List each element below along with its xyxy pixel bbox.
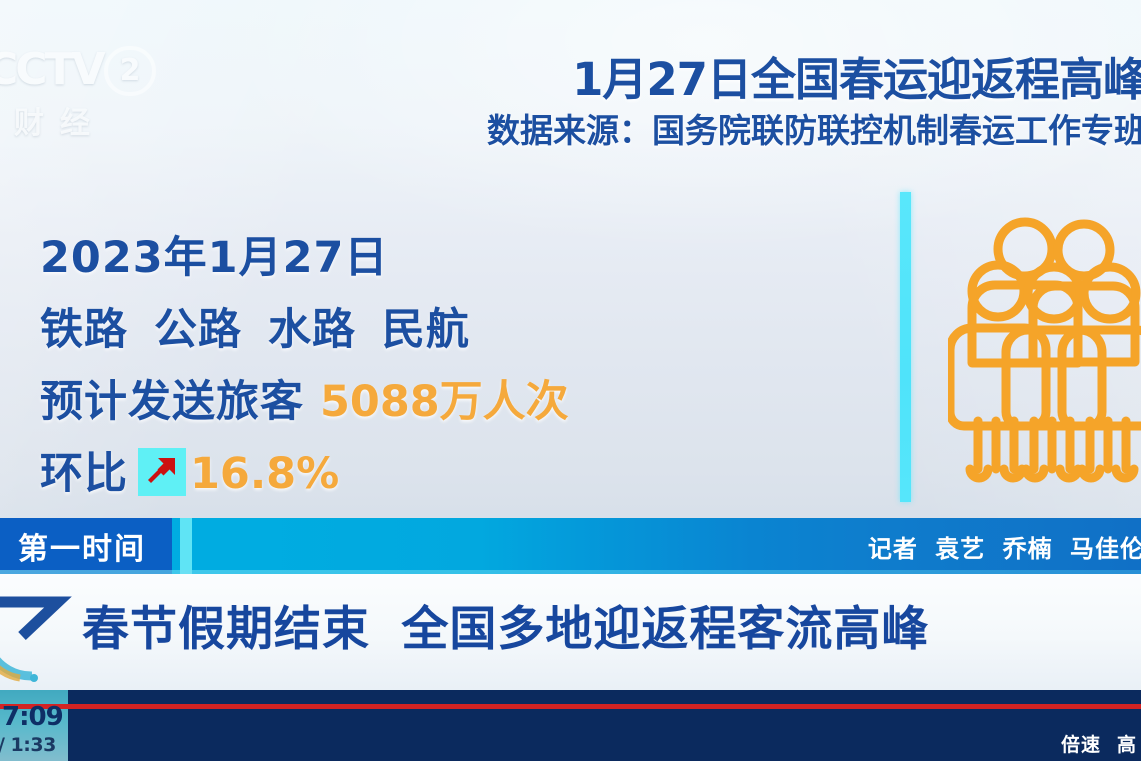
cctv-logo-subtitle: 财经 bbox=[14, 98, 106, 142]
stat-passengers-row: 预计发送旅客 5088万人次 bbox=[40, 366, 880, 438]
stat-change-value: 16.8% bbox=[190, 449, 339, 499]
statistics-block: 2023年1月27日 铁路 公路 水路 民航 预计发送旅客 5088万人次 环比… bbox=[40, 222, 880, 510]
program-badge-accent-tab bbox=[180, 518, 192, 574]
cctv-logo-text: CCTV bbox=[0, 44, 103, 95]
program-bar: 第一时间 记者 袁艺 乔楠 马佳伦 bbox=[0, 518, 1141, 574]
video-time-current: 7:09 bbox=[2, 702, 63, 732]
stat-date: 2023年1月27日 bbox=[40, 222, 880, 294]
stat-change-row: 环比 16.8% bbox=[40, 438, 880, 510]
video-progress-fill bbox=[0, 704, 1141, 709]
cyan-vertical-divider bbox=[900, 192, 911, 502]
people-group-icon bbox=[948, 215, 1141, 485]
news-headline-text: 春节假期结束 全国多地迎返程客流高峰 bbox=[82, 590, 929, 670]
video-frame[interactable]: CCTV 2 财经 1月27日全国春运迎返程高峰 数据来源：国务院联防联控机制春… bbox=[0, 0, 1141, 690]
stat-passengers-label: 预计发送旅客 bbox=[40, 377, 304, 427]
quality-button[interactable]: 高 bbox=[1117, 730, 1137, 757]
reporter-credits: 记者 袁艺 乔楠 马佳伦 bbox=[868, 518, 1141, 574]
program-badge: 第一时间 bbox=[0, 518, 172, 574]
headline-title: 1月27日全国春运迎返程高峰 bbox=[487, 56, 1141, 105]
player-left-panel bbox=[0, 690, 68, 761]
video-player-controls: 7:09 / 1:33 倍速 高 bbox=[0, 690, 1141, 761]
cctv-channel-logo: CCTV 2 财经 bbox=[0, 42, 176, 147]
arrow-up-right-icon bbox=[138, 448, 186, 496]
playback-speed-button[interactable]: 倍速 bbox=[1061, 730, 1101, 757]
news-headline-strip: 春节假期结束 全国多地迎返程客流高峰 bbox=[0, 574, 1141, 690]
player-right-controls: 倍速 高 bbox=[1061, 730, 1137, 757]
stat-change-label: 环比 bbox=[40, 449, 128, 499]
headline-block: 1月27日全国春运迎返程高峰 数据来源：国务院联防联控机制春运工作专班 bbox=[487, 56, 1141, 149]
video-progress-bar[interactable] bbox=[0, 704, 1141, 709]
stat-transport-modes: 铁路 公路 水路 民航 bbox=[40, 294, 880, 366]
program-badge-label: 第一时间 bbox=[18, 524, 146, 568]
cctv-logo-number: 2 bbox=[104, 46, 156, 96]
video-time-total: / 1:33 bbox=[0, 734, 56, 756]
stat-passengers-value: 5088万人次 bbox=[320, 377, 569, 427]
broadcast-screenshot: CCTV 2 财经 1月27日全国春运迎返程高峰 数据来源：国务院联防联控机制春… bbox=[0, 0, 1141, 761]
headline-source: 数据来源：国务院联防联控机制春运工作专班 bbox=[487, 113, 1141, 149]
